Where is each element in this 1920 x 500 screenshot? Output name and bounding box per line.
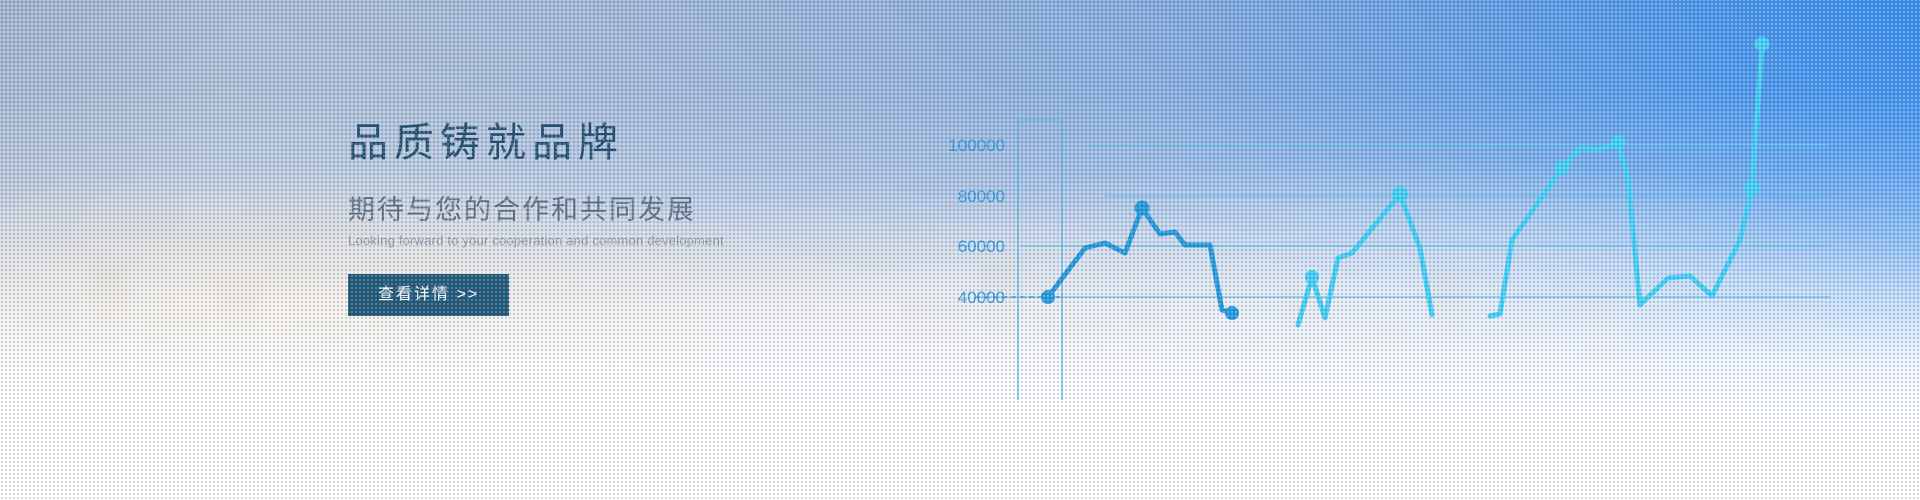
data-point-marker [1305, 270, 1319, 284]
data-point-marker [1755, 37, 1770, 52]
data-point-marker [1392, 186, 1408, 202]
data-point-marker [1135, 201, 1150, 216]
chart-series-3-markers [1555, 37, 1770, 196]
chart-axis-frame [1018, 120, 1062, 400]
view-details-button[interactable]: 查看详情 >> [348, 274, 509, 316]
hero-subtitle: 期待与您的合作和共同发展 [348, 188, 988, 227]
hero-copy-block: 品质铸就品牌 期待与您的合作和共同发展 Looking forward to y… [348, 118, 988, 316]
data-point-marker [1611, 136, 1626, 151]
chart-series-2-markers [1305, 186, 1408, 284]
page-title: 品质铸就品牌 [348, 118, 988, 168]
chart-gridlines [980, 145, 1830, 297]
chart-series-1-line [1048, 208, 1232, 313]
data-point-marker [1041, 290, 1055, 304]
chart-series-1-markers [1041, 201, 1239, 321]
chart-series-3-line [1490, 44, 1762, 316]
data-point-marker [1745, 181, 1760, 196]
data-point-marker [1225, 306, 1239, 320]
hero-banner: 100000 80000 60000 40000 品质铸就品牌 期 [0, 0, 1920, 500]
chart-series-2-line [1298, 194, 1432, 325]
data-point-marker [1555, 161, 1570, 176]
hero-tagline-english: Looking forward to your cooperation and … [348, 233, 988, 248]
